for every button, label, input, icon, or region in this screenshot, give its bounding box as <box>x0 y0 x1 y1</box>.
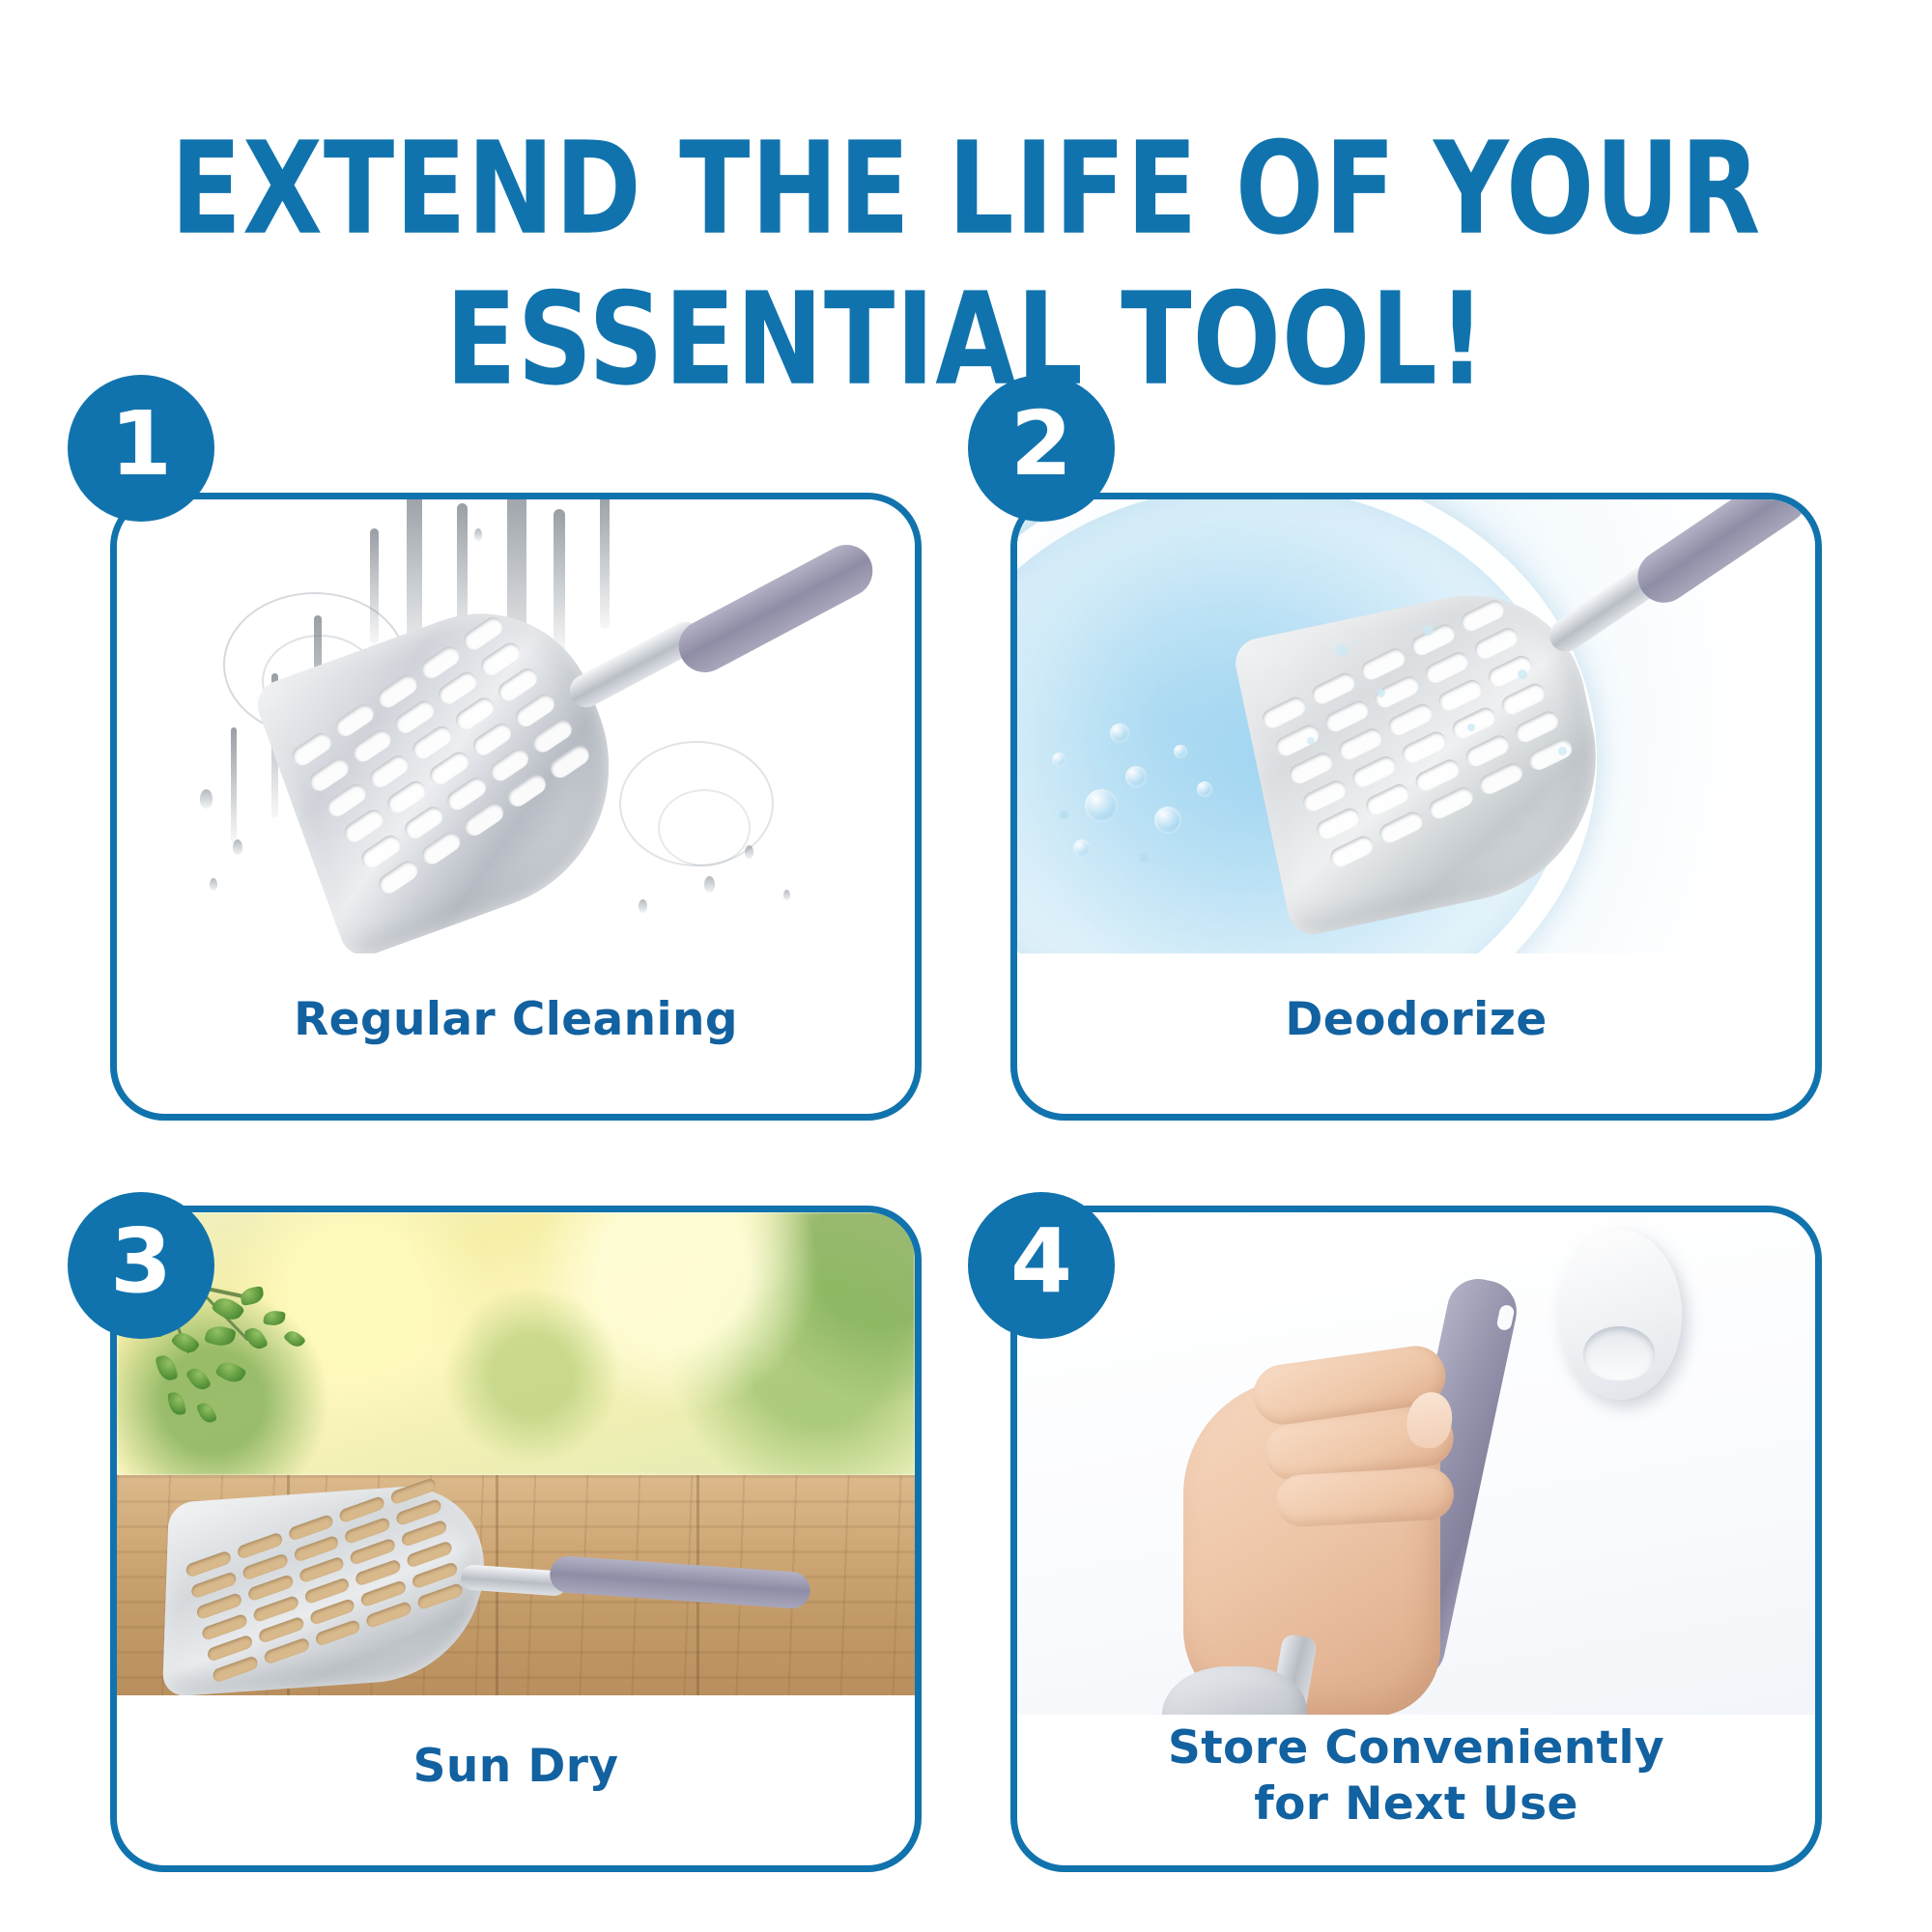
litter-scoop-illustration <box>165 1479 841 1691</box>
step-card-4[interactable]: Store Conveniently for Next Use <box>1010 1206 1822 1872</box>
step-badge-1: 1 <box>68 375 214 522</box>
step-badge-3: 3 <box>68 1192 214 1339</box>
step-2-caption: Deodorize <box>1017 944 1815 1114</box>
page-title-line-1: EXTEND THE LIFE OF YOUR <box>39 114 1893 266</box>
page-title: EXTEND THE LIFE OF YOUR ESSENTIAL TOOL! <box>0 114 1932 393</box>
step-badge-2: 2 <box>968 375 1115 522</box>
step-badge-4: 4 <box>968 1192 1115 1339</box>
step-card-3[interactable]: Sun Dry <box>110 1206 922 1872</box>
step-3-caption: Sun Dry <box>117 1686 915 1865</box>
step-4-photo <box>1017 1212 1815 1715</box>
step-4-caption-line-1: Store Conveniently <box>1168 1720 1664 1776</box>
page-title-line-2: ESSENTIAL TOOL! <box>39 265 1893 416</box>
step-4-caption: Store Conveniently for Next Use <box>1017 1705 1815 1865</box>
step-4-caption-line-2: for Next Use <box>1168 1776 1664 1833</box>
step-1-photo <box>117 499 915 953</box>
step-card-1[interactable]: Regular Cleaning <box>110 493 922 1121</box>
step-2-photo <box>1017 499 1815 953</box>
litter-scoop-illustration <box>1259 538 1815 924</box>
scene-deodorize-basin <box>1017 499 1815 953</box>
step-3-photo <box>117 1212 915 1695</box>
litter-scoop-illustration <box>291 588 870 953</box>
scene-water-rinse <box>117 499 915 953</box>
step-badge-4-number: 4 <box>1010 1217 1072 1306</box>
step-badge-1-number: 1 <box>110 400 172 489</box>
step-badge-3-number: 3 <box>110 1217 172 1306</box>
scene-sun-dry <box>117 1212 915 1695</box>
step-1-caption: Regular Cleaning <box>117 944 915 1114</box>
step-badge-2-number: 2 <box>1010 400 1072 489</box>
scene-store-on-hook <box>1017 1212 1815 1715</box>
step-card-2[interactable]: Deodorize <box>1010 493 1822 1121</box>
infographic-page: EXTEND THE LIFE OF YOUR ESSENTIAL TOOL! <box>0 0 1932 1932</box>
